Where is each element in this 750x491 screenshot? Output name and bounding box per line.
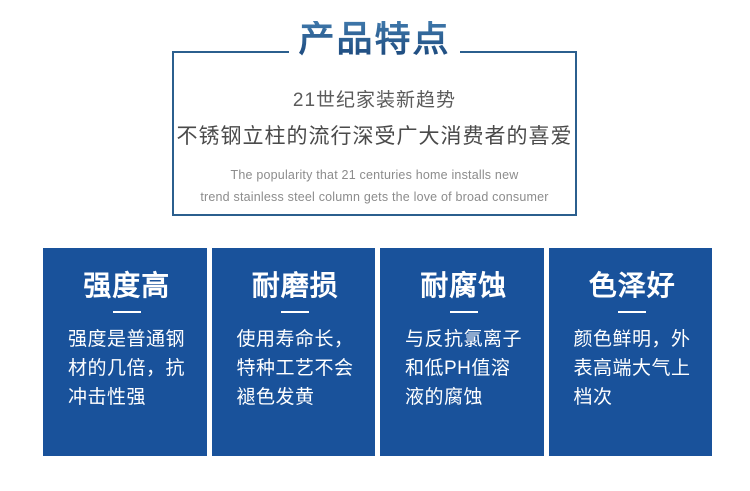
feature-card-body: 使用寿命长，特种工艺不会褪色发黄 <box>237 313 355 413</box>
feature-card-body: 颜色鲜明，外表高端大气上档次 <box>574 313 692 413</box>
feature-card-color-quality: 色泽好 颜色鲜明，外表高端大气上档次 <box>549 248 713 456</box>
feature-card-corrosion-resistance: 耐腐蚀 与反抗氯离子和低PH值溶液的腐蚀 <box>380 248 544 456</box>
subtitle-english: The popularity that 21 centuries home in… <box>174 149 575 209</box>
subtitle-english-line-1: The popularity that 21 centuries home in… <box>174 165 575 187</box>
feature-card-strength: 强度高 强度是普通钢材的几倍，抗冲击性强 <box>43 248 207 456</box>
feature-card-heading: 耐磨损 <box>237 270 355 302</box>
feature-card-body: 强度是普通钢材的几倍，抗冲击性强 <box>68 313 186 413</box>
feature-card-heading: 强度高 <box>68 270 186 302</box>
feature-card-heading: 耐腐蚀 <box>405 270 523 302</box>
subtitle-chinese-secondary: 不锈钢立柱的流行深受广大消费者的喜爱 <box>174 113 575 149</box>
subtitle-chinese-primary: 21世纪家装新趋势 <box>174 53 575 113</box>
feature-card-wear-resistance: 耐磨损 使用寿命长，特种工艺不会褪色发黄 <box>212 248 376 456</box>
product-features-header-frame: 产品特点 21世纪家装新趋势 不锈钢立柱的流行深受广大消费者的喜爱 The po… <box>172 53 577 216</box>
feature-card-list: 强度高 强度是普通钢材的几倍，抗冲击性强 耐磨损 使用寿命长，特种工艺不会褪色发… <box>43 248 712 456</box>
feature-card-body: 与反抗氯离子和低PH值溶液的腐蚀 <box>405 313 523 413</box>
page-title: 产品特点 <box>174 21 575 57</box>
subtitle-english-line-2: trend stainless steel column gets the lo… <box>174 187 575 209</box>
feature-card-heading: 色泽好 <box>574 270 692 302</box>
